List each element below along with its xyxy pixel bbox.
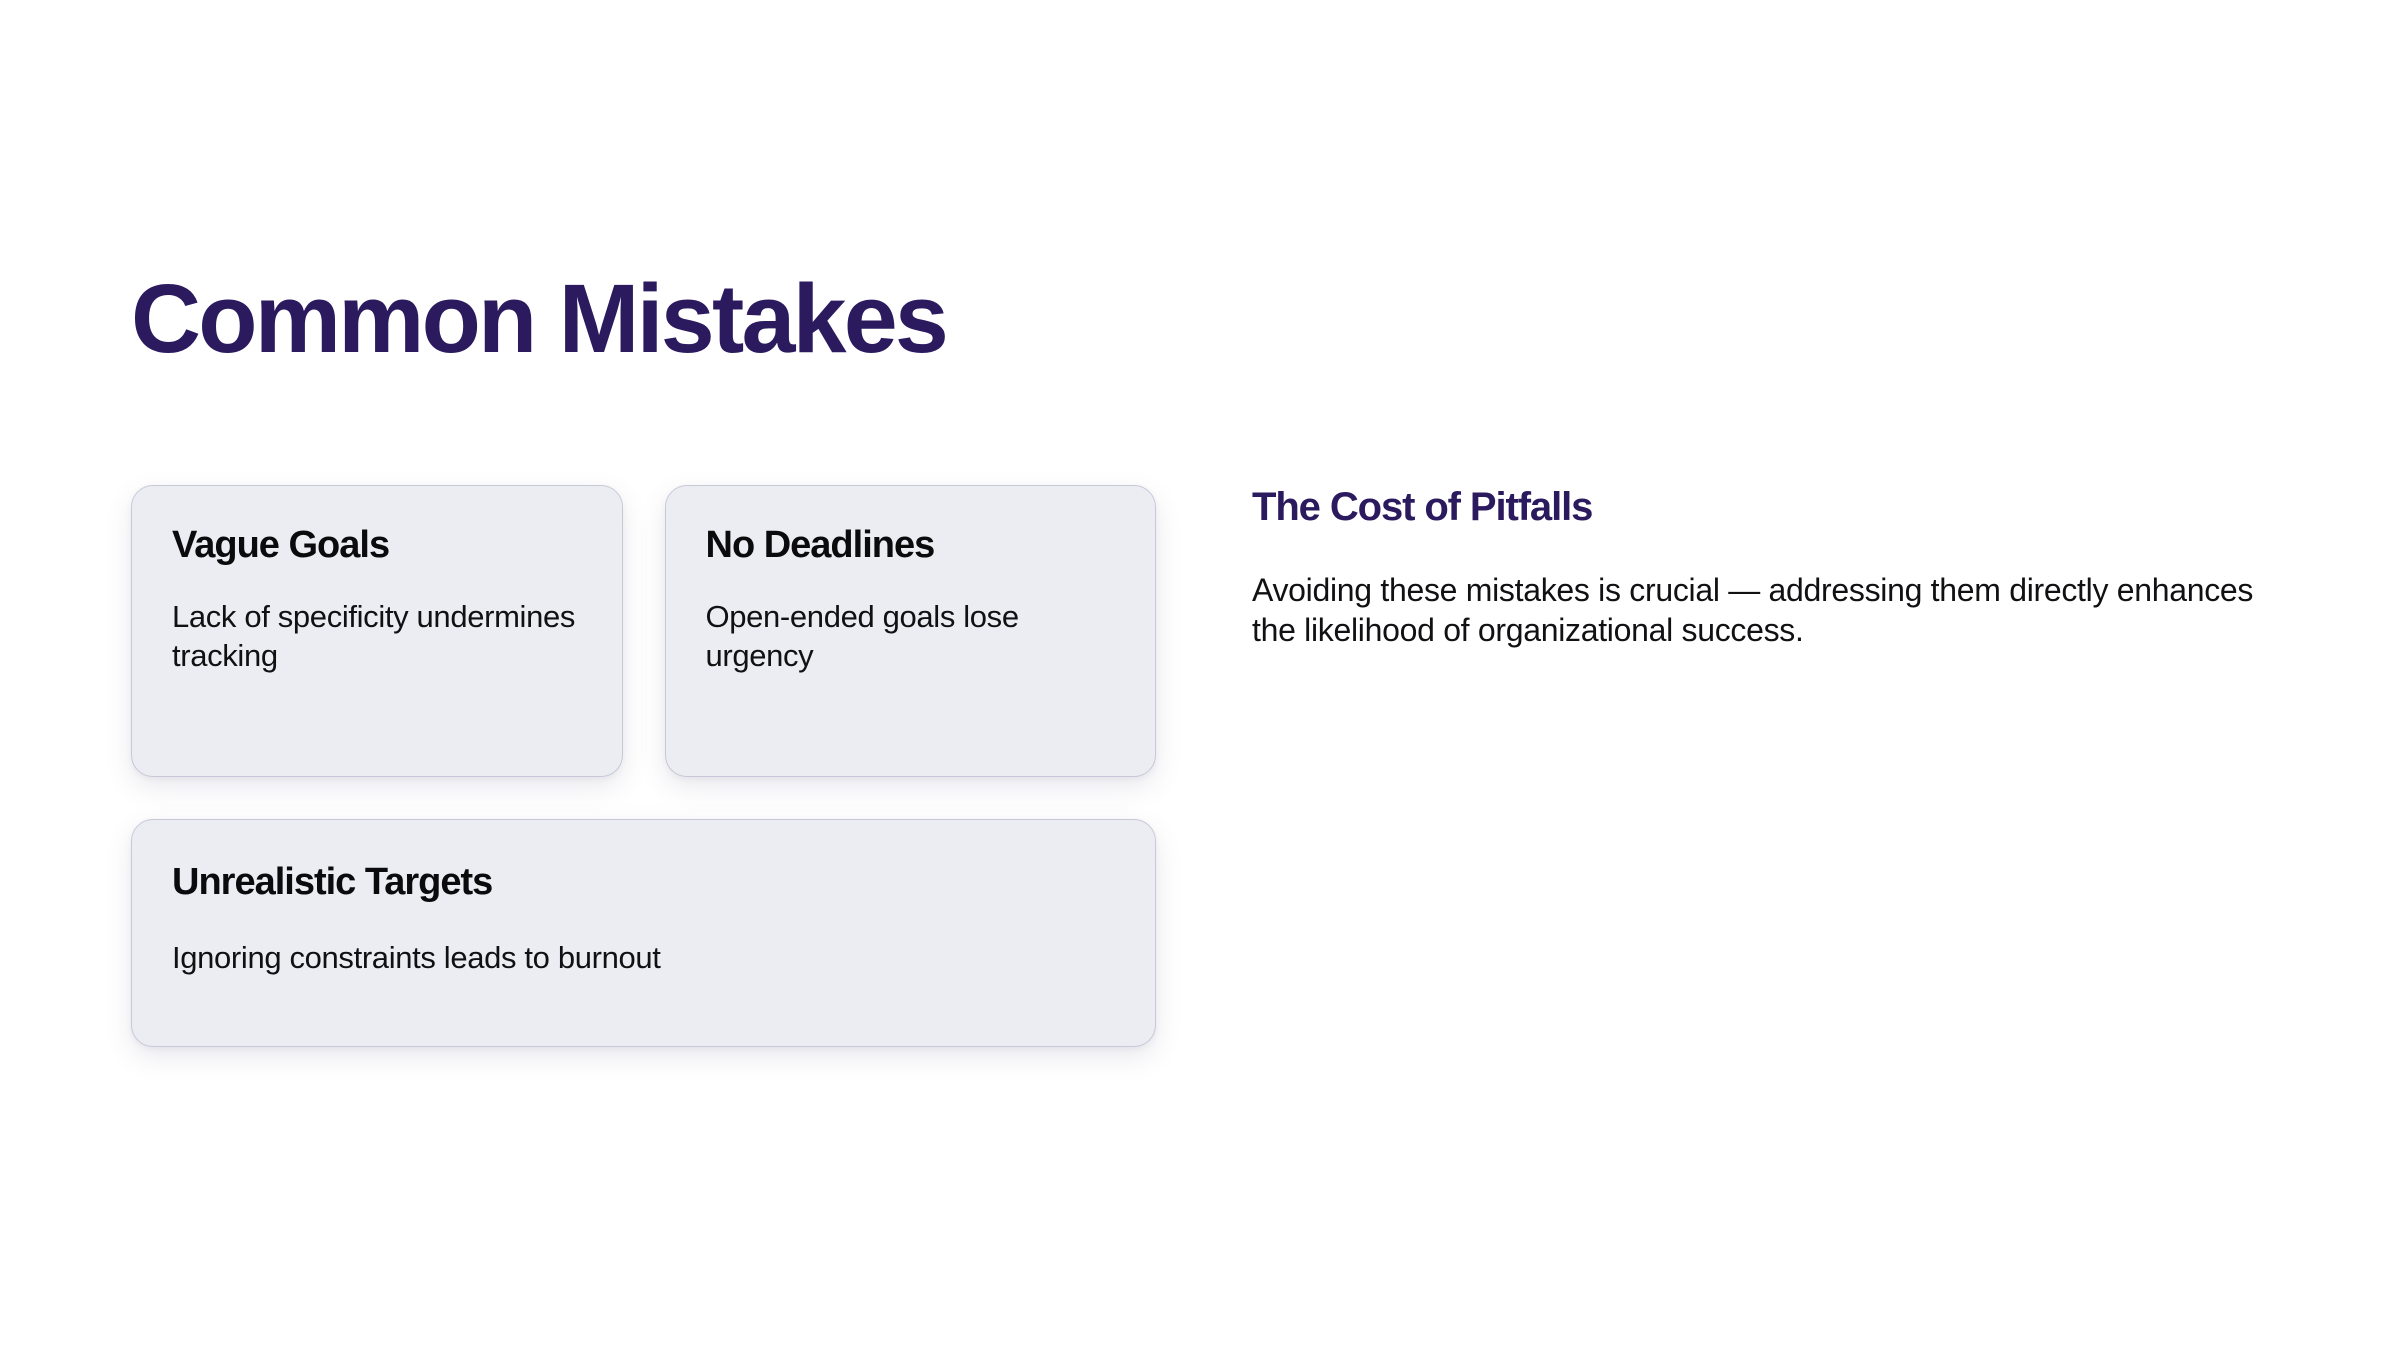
cards-top-row: Vague Goals Lack of specificity undermin… bbox=[131, 485, 1156, 777]
card-title: Vague Goals bbox=[172, 525, 582, 567]
mistake-card-unrealistic-targets[interactable]: Unrealistic Targets Ignoring constraints… bbox=[131, 819, 1156, 1047]
aside-paragraph: Avoiding these mistakes is crucial — add… bbox=[1252, 570, 2262, 650]
card-title: No Deadlines bbox=[706, 525, 1116, 567]
card-body: Lack of specificity undermines tracking bbox=[172, 597, 582, 676]
card-body: Ignoring constraints leads to burnout bbox=[172, 938, 1115, 978]
aside-heading: The Cost of Pitfalls bbox=[1252, 485, 2282, 529]
card-title: Unrealistic Targets bbox=[172, 862, 1115, 904]
mistake-card-no-deadlines[interactable]: No Deadlines Open-ended goals lose urgen… bbox=[665, 485, 1157, 777]
page-title: Common Mistakes bbox=[131, 270, 946, 367]
mistakes-card-grid: Vague Goals Lack of specificity undermin… bbox=[131, 485, 1156, 1047]
cost-of-pitfalls-panel: The Cost of Pitfalls Avoiding these mist… bbox=[1252, 485, 2282, 650]
card-body: Open-ended goals lose urgency bbox=[706, 597, 1116, 676]
slide-root: Common Mistakes Vague Goals Lack of spec… bbox=[0, 0, 2400, 1350]
mistake-card-vague-goals[interactable]: Vague Goals Lack of specificity undermin… bbox=[131, 485, 623, 777]
